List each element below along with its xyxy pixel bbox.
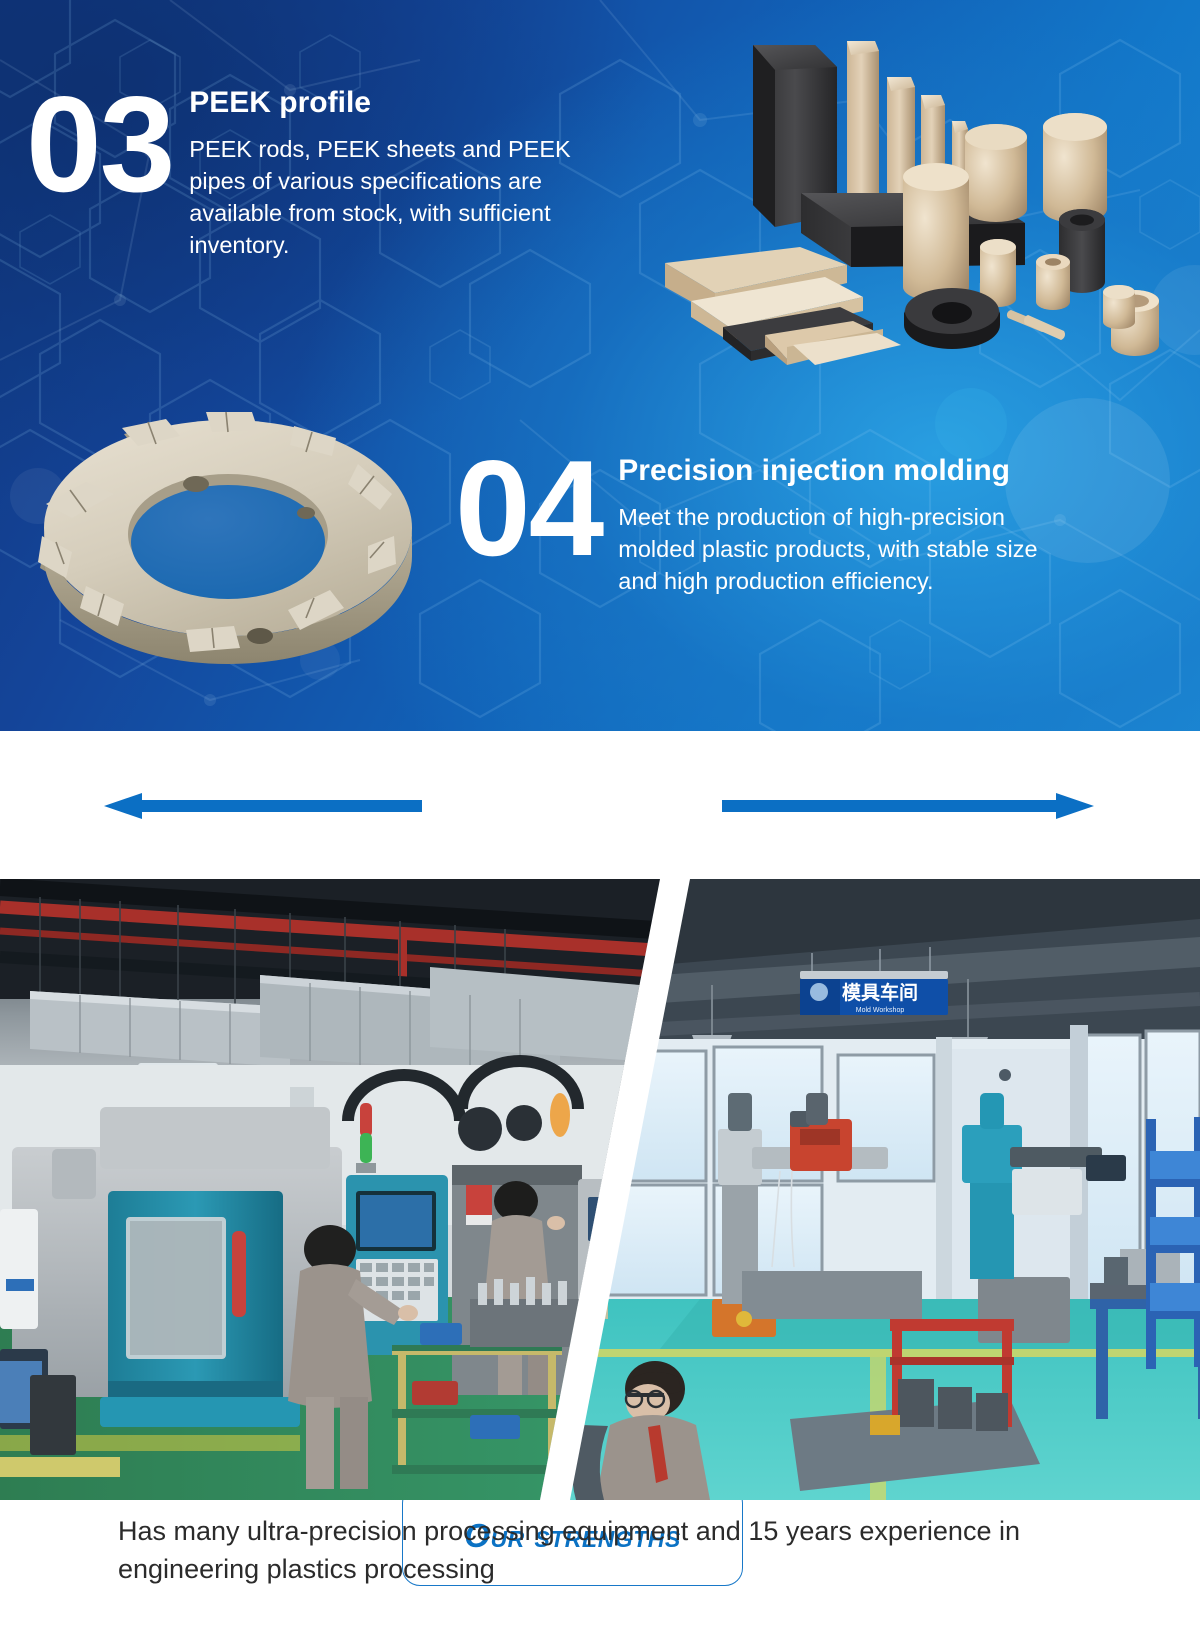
- feature-number-03: 03: [26, 80, 173, 209]
- feature-title-03: PEEK profile: [189, 86, 609, 121]
- hero-panel: 03 PEEK profile PEEK rods, PEEK sheets a…: [0, 0, 1200, 731]
- feature-block-03: 03 PEEK profile PEEK rods, PEEK sheets a…: [26, 72, 666, 261]
- strengths-banner: Our strengths: [0, 731, 1200, 879]
- feature-number-04: 04: [455, 444, 602, 573]
- svg-text:Mold Workshop: Mold Workshop: [856, 1007, 905, 1014]
- page-root: 03 PEEK profile PEEK rods, PEEK sheets a…: [0, 0, 1200, 1633]
- svg-text:模具车间: 模具车间: [842, 981, 918, 1004]
- feature-body-04: Meet the production of high-precision mo…: [618, 501, 1043, 598]
- feature-block-04: 04 Precision injection molding Meet the …: [455, 440, 1175, 597]
- peek-profiles-image: [625, 15, 1185, 365]
- factory-photo-strip: 模具车间 Mold Workshop: [0, 879, 1200, 1500]
- feature-title-04: Precision injection molding: [618, 454, 1043, 489]
- page-caption: Has many ultra-precision processing equi…: [118, 1512, 1088, 1589]
- peek-ring-image: [28, 392, 428, 664]
- double-arrow-graphic: [0, 792, 1200, 820]
- feature-body-03: PEEK rods, PEEK sheets and PEEK pipes of…: [189, 133, 609, 262]
